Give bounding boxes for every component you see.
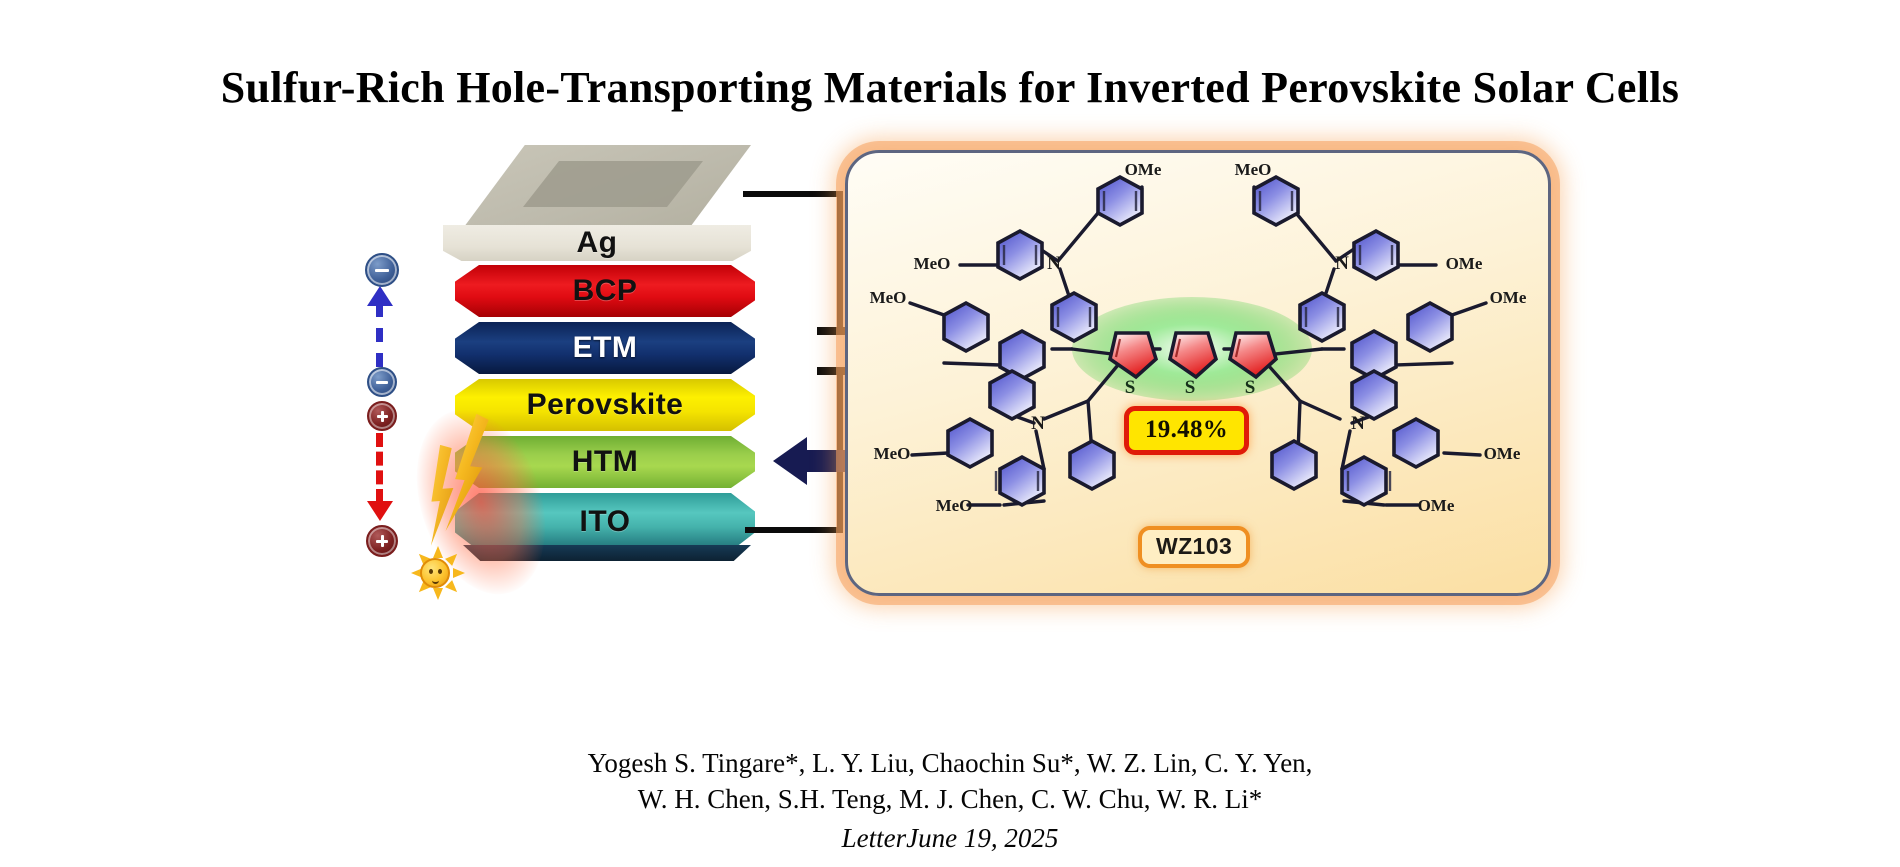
device-layer-ag: Ag [443,145,768,263]
electron-flow-dashes [376,303,383,367]
benzene-ring [1352,371,1396,419]
circuit-wire-top [743,191,843,197]
circuit-wire-right-upper [837,191,843,331]
author-line-2: W. H. Chen, S.H. Teng, M. J. Chen, C. W.… [0,782,1900,818]
device-layer-label-ag: Ag [577,228,618,258]
atom-label-sulfur: S [1185,377,1196,398]
atom-label-sulfur: S [1125,377,1136,398]
atom-label: N [1351,413,1365,434]
circuit-wire-bottom [745,527,843,533]
atom-label: N [1031,413,1045,434]
atom-label: MeO [936,496,973,515]
atom-label: MeO [1235,160,1272,179]
atom-label: N [1335,253,1349,274]
benzene-ring [990,371,1034,419]
hole-flow-arrowhead [367,501,393,521]
atom-label: MeO [874,444,911,463]
device-layer-perovskite: Perovskite [455,379,755,431]
author-list: Yogesh S. Tingare*, L. Y. Liu, Chaochin … [0,746,1900,818]
sun-eye-right [438,569,442,574]
atom-label: OMe [1484,444,1521,463]
hole-flow-dashes [376,433,383,503]
atom-label: N [1047,253,1061,274]
device-layer-label-etm: ETM [573,333,638,363]
atom-label: OMe [1125,160,1162,179]
ag-plate-face: Ag [443,225,751,261]
sun-eye-left [429,569,433,574]
bcp-slab: BCP [455,265,755,317]
device-layer-label-htm: HTM [572,447,638,477]
sun-icon [407,545,463,601]
efficiency-badge: 19.48% [1124,406,1249,455]
device-layer-label-perovskite: Perovskite [527,390,684,420]
etm-slab: ETM [455,322,755,374]
compound-name-badge: WZ103 [1138,526,1250,568]
molecule-structure-panel: OMe MeO MeO OMe MeO OMe N N N N MeO OMe … [845,150,1551,596]
benzene-ring [1272,441,1316,489]
atom-label: OMe [1446,254,1483,273]
hole-carrier-bottom [366,525,398,557]
device-layer-label-ito: ITO [580,507,631,537]
electron-flow-arrowhead [367,286,393,306]
atom-label: OMe [1418,496,1455,515]
benzene-ring [1394,419,1438,467]
atom-label: OMe [1490,288,1527,307]
electron-carrier-mid [367,367,397,397]
device-stack-diagram: Ag BCP ETM Perovskite HTM [455,145,805,585]
page-title: Sulfur-Rich Hole-Transporting Materials … [0,62,1900,113]
atom-label-sulfur: S [1245,377,1256,398]
graphical-abstract-figure: Ag BCP ETM Perovskite HTM [0,145,1900,600]
author-line-1: Yogesh S. Tingare*, L. Y. Liu, Chaochin … [0,746,1900,782]
device-layer-bcp: BCP [455,265,755,317]
htm-link-arrow-head [773,437,807,485]
benzene-ring [1070,441,1114,489]
device-layer-etm: ETM [455,322,755,374]
benzene-ring [1408,303,1452,351]
electron-carrier-top [365,253,399,287]
atom-label: MeO [870,288,907,307]
benzene-ring [944,303,988,351]
benzene-ring [1000,331,1044,379]
benzene-ring [948,419,992,467]
device-layer-label-bcp: BCP [573,276,638,306]
hole-carrier-mid [367,401,397,431]
atom-label: MeO [914,254,951,273]
publication-line: LetterJune 19, 2025 [0,823,1900,854]
perovskite-slab: Perovskite [455,379,755,431]
